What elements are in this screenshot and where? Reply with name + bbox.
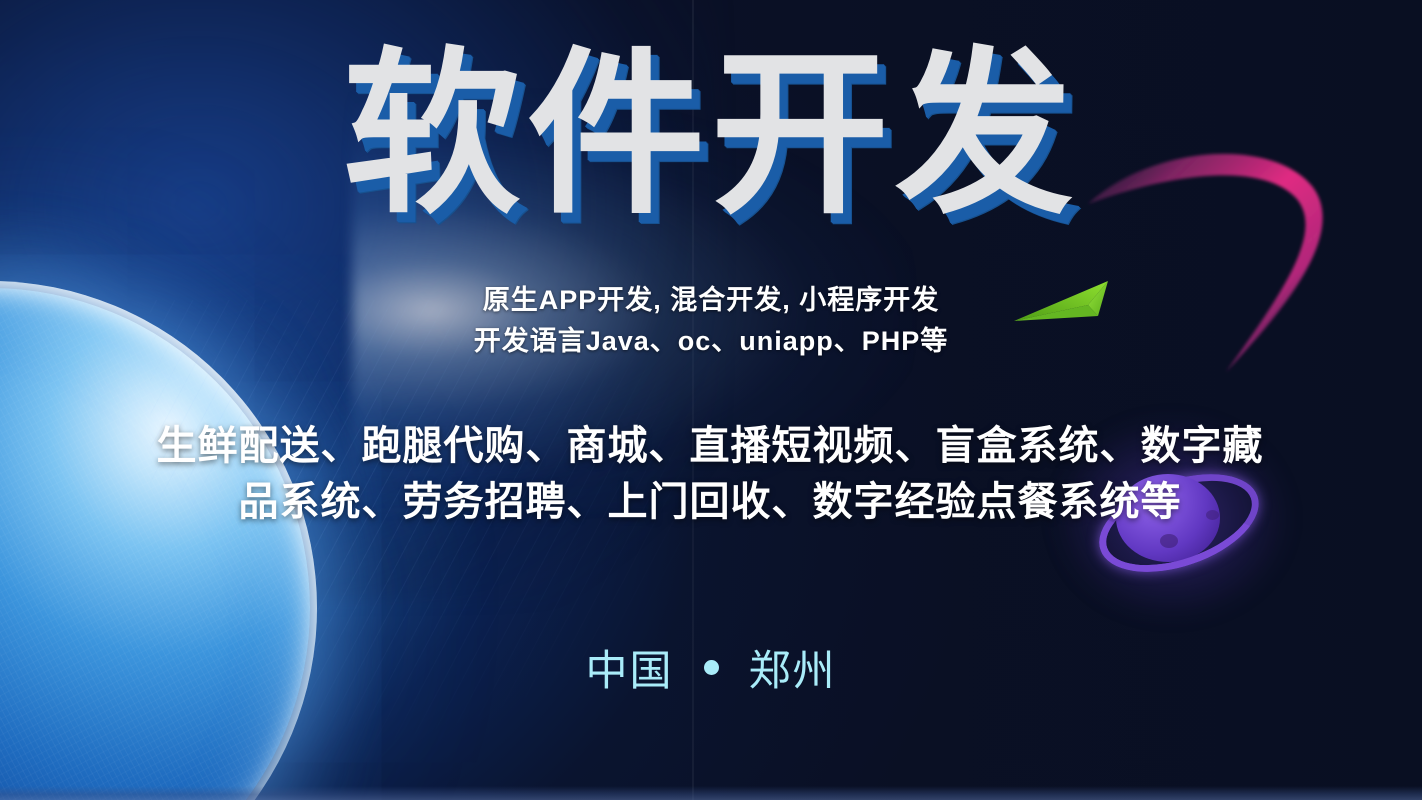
location-separator-dot (704, 660, 719, 675)
poster-location: 中国 郑州 (0, 637, 1422, 698)
location-city: 郑州 (749, 637, 837, 698)
subtitle-line-2: 开发语言Java、oc、uniapp、PHP等 (0, 321, 1422, 362)
poster-services-list: 生鲜配送、跑腿代购、商城、直播短视频、盲盒系统、数字藏品系统、劳务招聘、上门回收… (150, 418, 1270, 530)
subtitle-line-1: 原生APP开发, 混合开发, 小程序开发 (0, 280, 1422, 321)
poster-content: 软件开发 原生APP开发, 混合开发, 小程序开发 开发语言Java、oc、un… (0, 0, 1422, 800)
location-country: 中国 (585, 637, 673, 698)
poster-canvas: 软件开发 原生APP开发, 混合开发, 小程序开发 开发语言Java、oc、un… (0, 0, 1422, 800)
poster-subtitle: 原生APP开发, 混合开发, 小程序开发 开发语言Java、oc、uniapp、… (0, 280, 1422, 362)
poster-title: 软件开发 (0, 46, 1422, 224)
